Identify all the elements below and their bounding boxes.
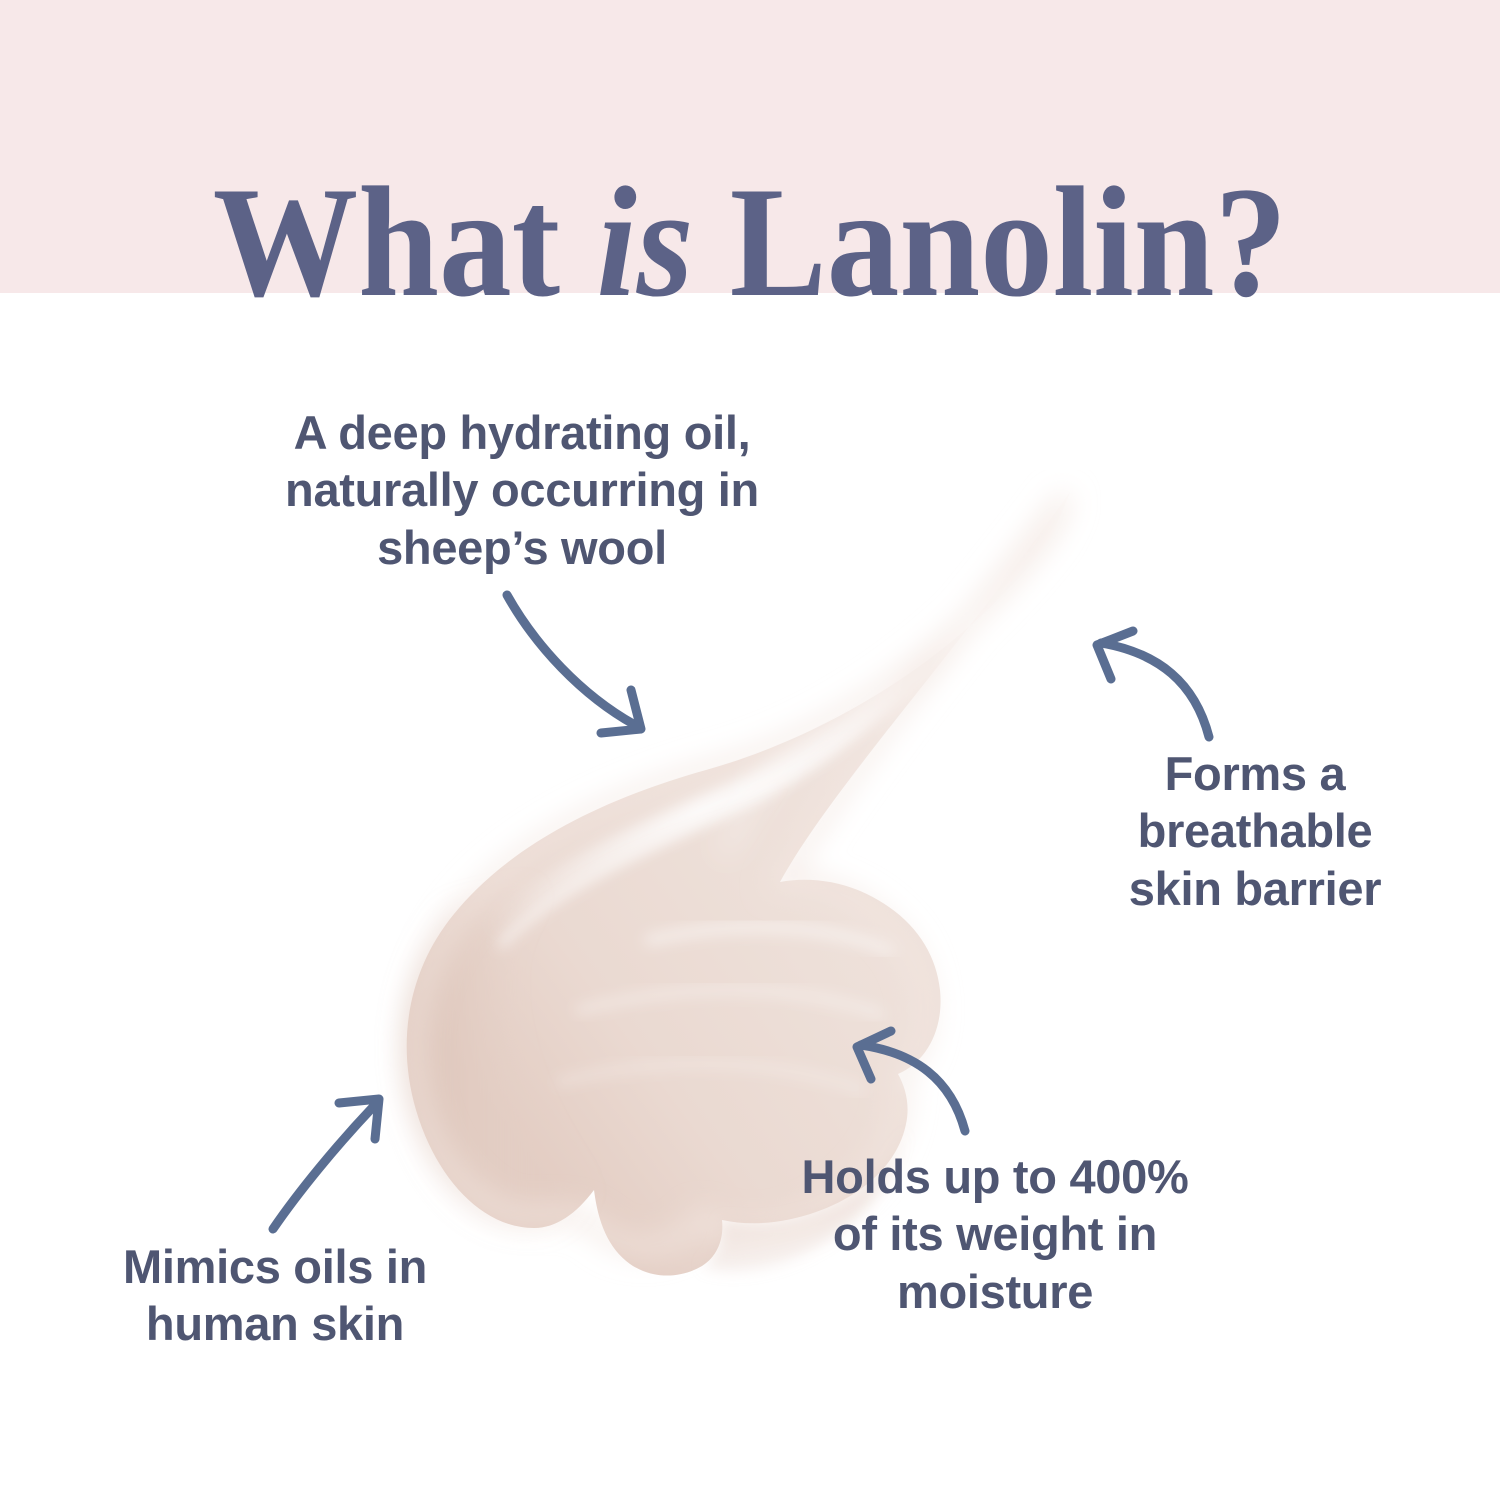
- page-title-part2: Lanolin?: [693, 155, 1287, 330]
- callout-text-barrier: Forms a breathable skin barrier: [1059, 745, 1451, 917]
- page-title-emphasis: is: [596, 155, 693, 330]
- infographic-page: What is Lanolin?: [0, 0, 1500, 1500]
- callout-text-holds: Holds up to 400% of its weight in moistu…: [722, 1148, 1268, 1320]
- callout-text-hydrating: A deep hydrating oil, naturally occurrin…: [222, 404, 822, 576]
- callout-text-mimics: Mimics oils in human skin: [50, 1238, 500, 1353]
- page-title-part1: What: [213, 155, 597, 330]
- page-title: What is Lanolin?: [60, 164, 1440, 322]
